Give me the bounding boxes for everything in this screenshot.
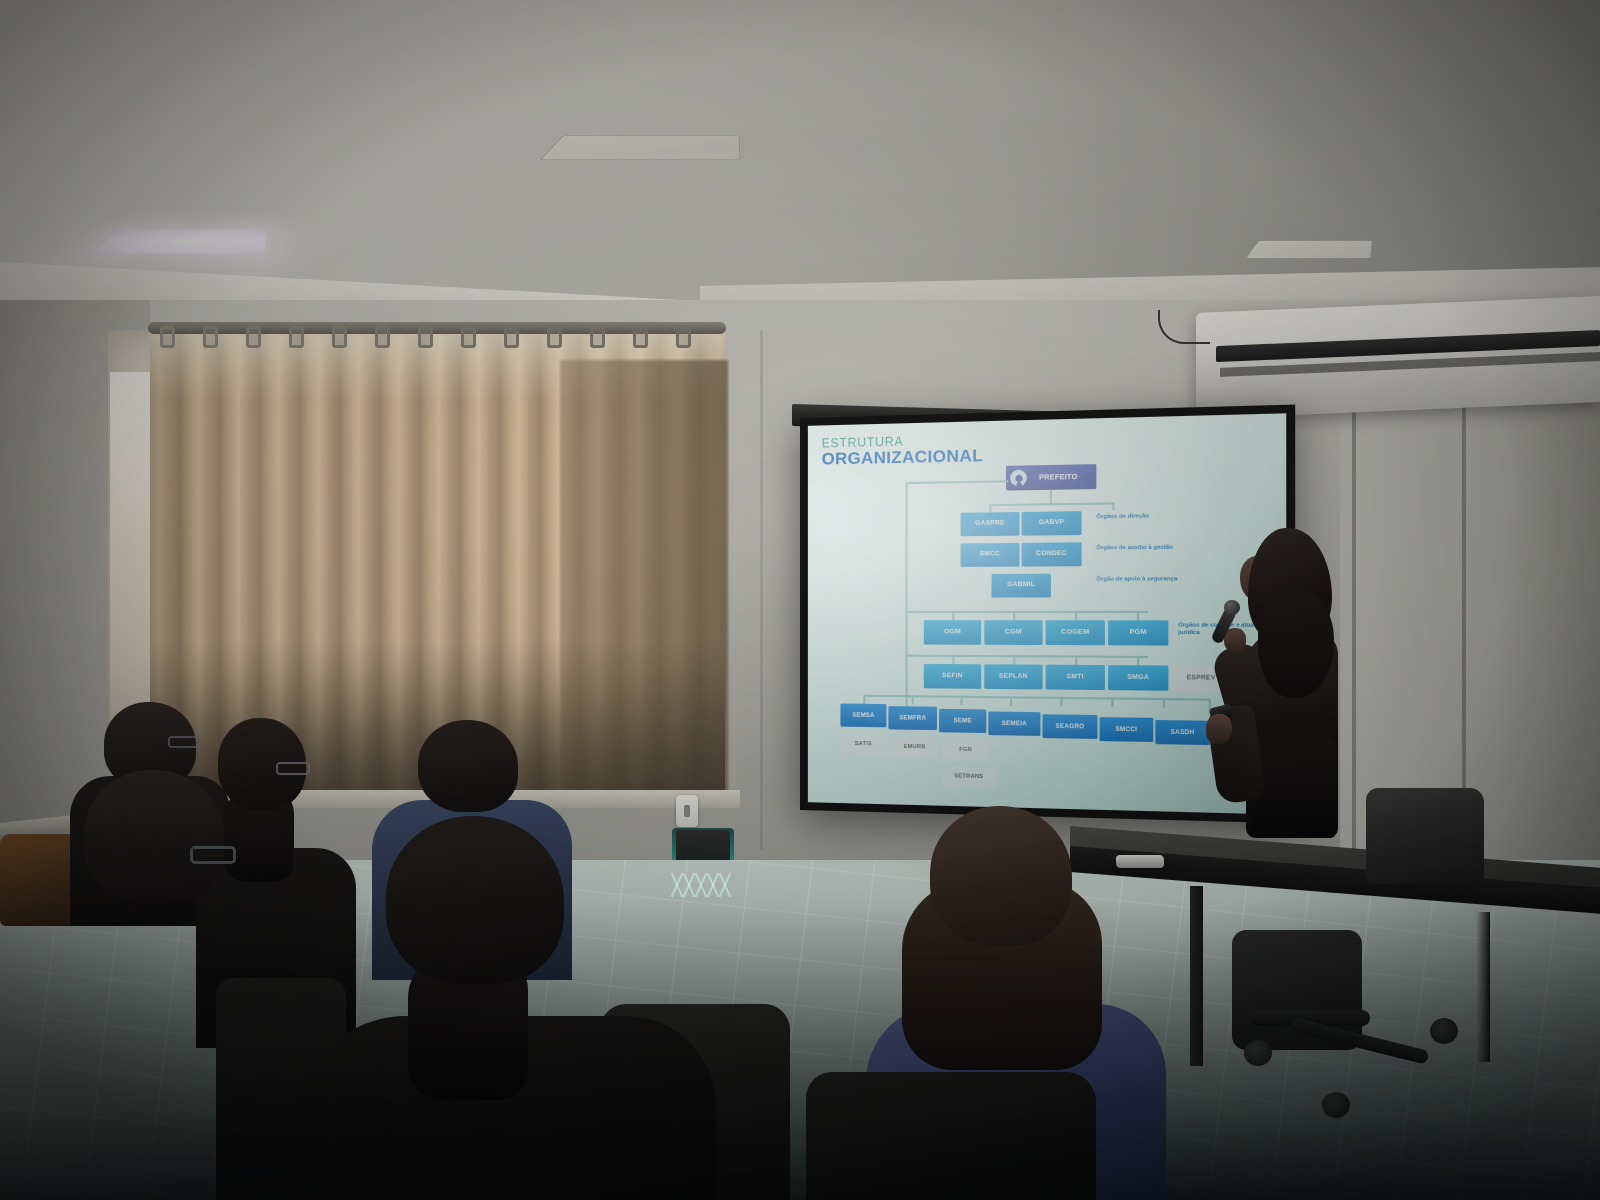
curtain-grommet — [332, 326, 347, 348]
connector-level4-bar — [906, 611, 1148, 613]
curtain-grommet — [504, 326, 519, 348]
connector-level5-bar — [906, 655, 1148, 658]
curtain-grommet — [246, 326, 261, 348]
org-node-semfra: SEMFRA — [888, 706, 937, 730]
connector-spine — [906, 482, 908, 707]
presenter-left-hand — [1206, 714, 1232, 744]
org-node-semeia: SEMEIA — [988, 711, 1040, 735]
presenter-hair-length — [1258, 590, 1334, 698]
meeting-room-scene: ESTRUTURA ORGANIZACIONAL PREFEITO — [0, 0, 1600, 1200]
curtain-grommet — [289, 326, 304, 348]
connector-l6-f — [1111, 697, 1113, 706]
org-node-emurb: EMURB — [891, 738, 938, 759]
connector-l5-a — [952, 655, 954, 664]
connector-l6-g — [1163, 698, 1165, 707]
org-node-gaspre: GASPRE — [961, 512, 1020, 536]
org-node-satis: SATIS — [840, 735, 886, 756]
glasses-icon — [168, 736, 200, 748]
org-node-seagro: SEAGRO — [1043, 714, 1098, 739]
chair-caster-1 — [1244, 1040, 1272, 1066]
connector-l4-b — [1013, 611, 1015, 620]
org-node-smcc: SMCC — [961, 543, 1020, 567]
org-node-gabvp: GABVP — [1022, 511, 1082, 536]
connector-l6-a — [863, 695, 864, 704]
curtain-grommet — [160, 326, 175, 348]
attendee-f-head — [930, 806, 1072, 946]
org-node-setrans: SETRANS — [942, 767, 995, 789]
connector-root-down — [1050, 490, 1052, 503]
curtain-grommet — [633, 326, 648, 348]
table-leg-2 — [1476, 912, 1490, 1062]
org-node-fgr: FGR — [942, 740, 989, 761]
org-node-gabmil: GABMIL — [991, 574, 1050, 598]
wall-divider-2 — [1462, 330, 1466, 850]
curtain-grommet — [676, 326, 691, 348]
org-node-cogem: COGEM — [1046, 620, 1105, 645]
projector-remote — [1116, 855, 1165, 868]
ceiling-light-lit — [93, 230, 267, 254]
org-category-direcao: Órgãos de direção — [1096, 513, 1173, 521]
org-node-ogm: OGM — [924, 620, 981, 645]
connector-l5-d — [1137, 656, 1139, 665]
attendee-e-head — [386, 816, 564, 984]
connector-level1-right — [1112, 502, 1114, 510]
org-node-pgm: PGM — [1108, 620, 1168, 645]
audience-chair-2 — [806, 1072, 1096, 1200]
microphone-head — [1224, 600, 1240, 615]
office-chair-right — [1366, 788, 1484, 884]
glasses-icon — [276, 762, 310, 775]
org-node-cgm: CGM — [984, 620, 1042, 645]
org-node-sefin: SEFIN — [924, 664, 981, 689]
connector-root-left — [906, 480, 1008, 483]
curtain-grommet — [590, 326, 605, 348]
presenter — [1196, 528, 1366, 836]
org-node-seplan: SEPLAN — [984, 664, 1042, 689]
connector-level1-bar — [989, 502, 1113, 505]
org-node-seme: SEME — [939, 709, 986, 733]
connector-l4-c — [1075, 611, 1077, 620]
wall-outlet[interactable] — [676, 795, 698, 827]
ceiling-light-unlit — [539, 136, 740, 160]
connector-l4-d — [1137, 611, 1139, 620]
presenter-lower-body — [1252, 736, 1336, 838]
org-node-condec: CONDEC — [1022, 542, 1082, 566]
org-node-semsa: SEMSA — [840, 704, 886, 728]
org-node-smcci: SMCCI — [1100, 717, 1154, 742]
curtain-grommet — [203, 326, 218, 348]
curtain-grommet — [375, 326, 390, 348]
org-category-auxilio: Órgãos de auxílio à gestão — [1096, 545, 1180, 553]
attendee-d-head — [84, 770, 224, 902]
connector-l6-e — [1060, 697, 1062, 706]
connector-l6-d — [1010, 696, 1012, 705]
table-leg — [1190, 886, 1203, 1066]
curtain-grommet — [461, 326, 476, 348]
org-node-smti: SMTI — [1046, 665, 1105, 690]
attendee-c-head — [418, 720, 518, 812]
wall-divider-3 — [760, 330, 763, 850]
connector-l6-c — [961, 696, 963, 705]
chair-caster-2 — [1322, 1092, 1350, 1118]
ceiling-light-unlit-right — [1245, 240, 1373, 258]
org-node-smga: SMGA — [1108, 665, 1168, 691]
connector-level6-bar — [863, 695, 1208, 700]
connector-l5-c — [1075, 656, 1077, 665]
connector-level1-left — [989, 504, 991, 512]
glasses-icon — [190, 846, 236, 864]
chair-caster-3 — [1430, 1018, 1458, 1044]
connector-l4-a — [952, 611, 954, 620]
connector-l5-b — [1013, 655, 1015, 664]
curtain-grommet — [418, 326, 433, 348]
org-category-seguranca: Órgão de apoio à segurança — [1096, 576, 1184, 583]
attendee-d-body — [0, 910, 320, 1200]
connector-l6-b — [912, 695, 914, 704]
curtain-grommet — [547, 326, 562, 348]
